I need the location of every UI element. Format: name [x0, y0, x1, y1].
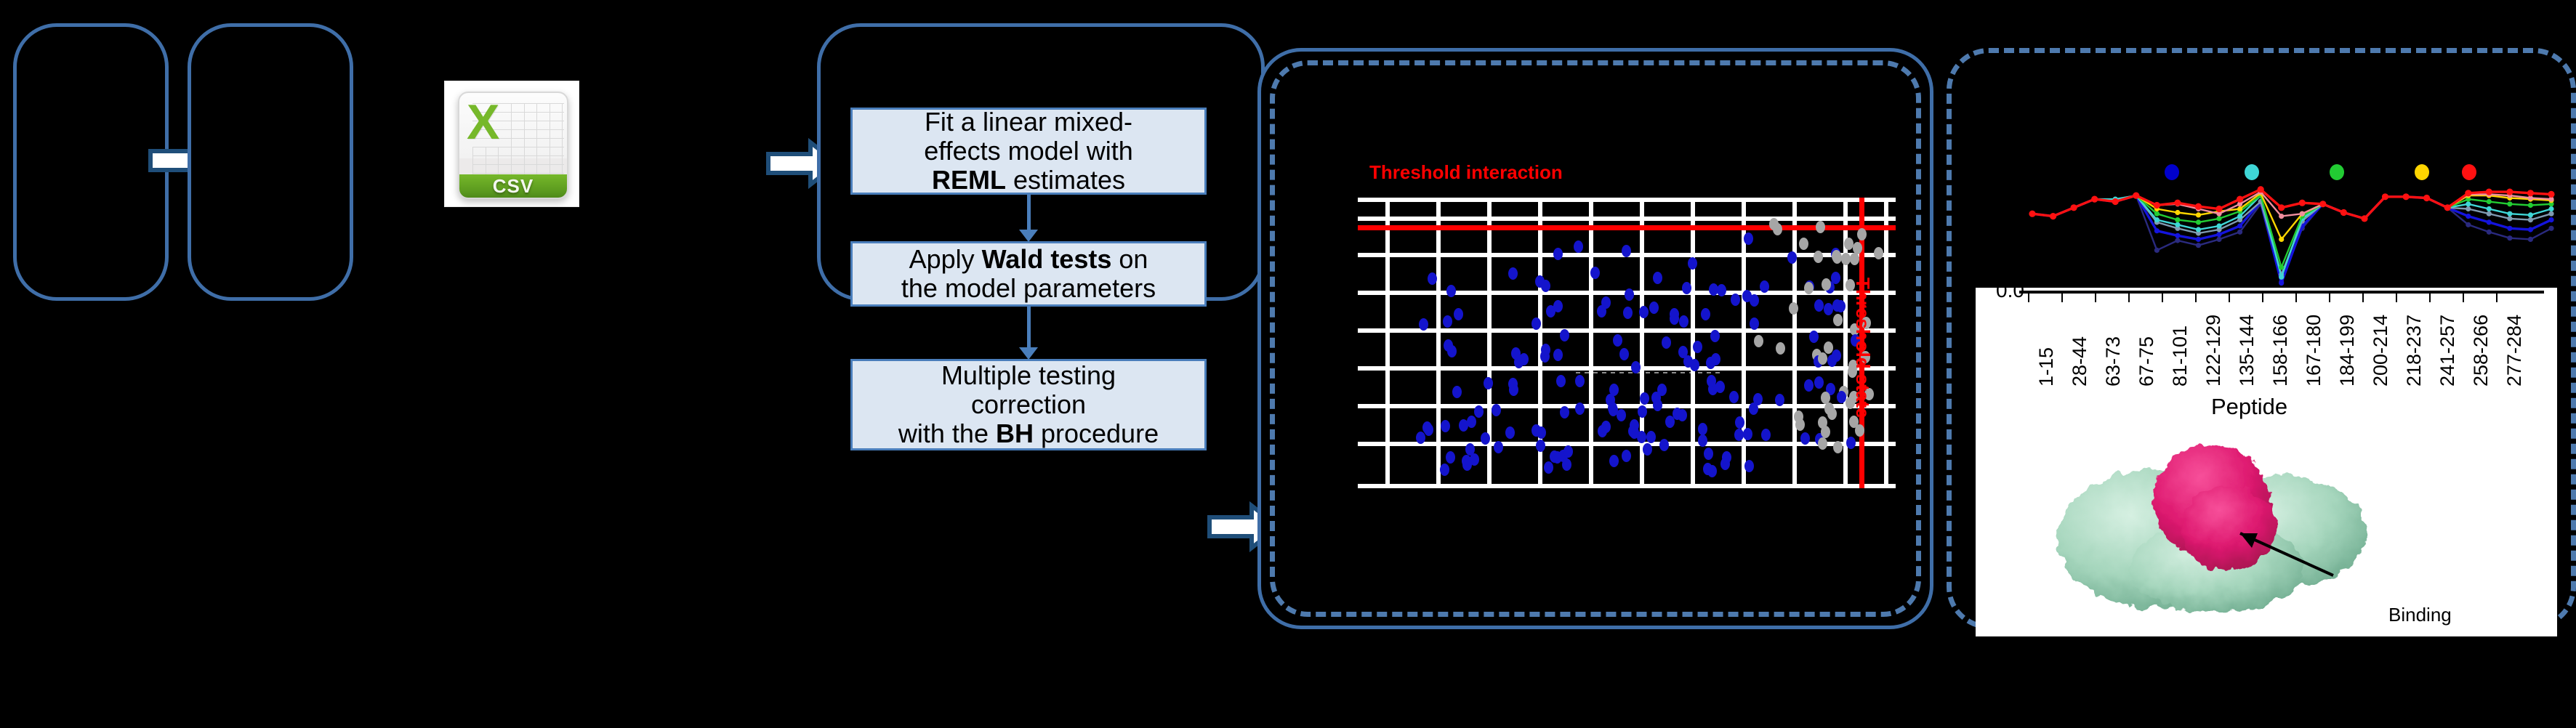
peptide-tick-label: 28-44 — [2069, 336, 2091, 387]
peptide-tick-label: 218-237 — [2403, 315, 2426, 387]
peptide-series-marker — [2548, 226, 2553, 231]
peptide-series-marker — [2175, 233, 2180, 238]
scatter-point — [1560, 329, 1569, 341]
scatter-point — [1809, 331, 1819, 343]
plain-text: with the — [898, 418, 996, 448]
scatter-point — [1800, 432, 1810, 445]
peptide-series-marker — [2487, 219, 2492, 225]
scatter-point — [1832, 299, 1842, 312]
scatter-point — [1659, 439, 1669, 451]
peptide-axis-structure-card: 0.0 1-1528-4463-7367-7581-101122-129135-… — [1976, 288, 2557, 636]
scatter-point — [1818, 437, 1827, 450]
peptide-series-marker — [2319, 201, 2326, 207]
peptide-series-marker — [2133, 193, 2139, 199]
scatter-point — [1704, 448, 1713, 460]
peptide-series-marker — [2403, 193, 2410, 200]
scatter-point — [1575, 403, 1585, 415]
scatter-point — [1474, 405, 1484, 418]
scatter-point — [1452, 386, 1462, 398]
scatter-point — [1855, 424, 1864, 437]
peptide-series-marker — [2196, 219, 2201, 225]
scatter-point — [1446, 285, 1456, 297]
peptide-series-marker — [2154, 248, 2160, 253]
peptide-series-marker — [2487, 230, 2492, 235]
scatter-point — [1562, 458, 1571, 471]
scatter-point — [1653, 272, 1662, 284]
peptide-series-marker — [2300, 211, 2305, 217]
plain-text: on — [1111, 244, 1148, 274]
peptide-series-marker — [2091, 196, 2098, 203]
scatter-point — [1536, 440, 1545, 452]
scatter-point — [1814, 299, 1824, 312]
x-axis-tick — [2329, 294, 2330, 302]
scatter-point — [1844, 238, 1853, 250]
scatter-point — [1563, 445, 1573, 458]
peptide-series-marker — [2506, 189, 2513, 195]
scatter-point — [1690, 359, 1699, 371]
emphasis-text: Wald tests — [982, 244, 1112, 274]
peptide-series-marker — [2487, 206, 2492, 211]
peptide-series-marker — [2050, 213, 2056, 219]
scatter-point — [1743, 428, 1752, 440]
scatter-point — [1622, 450, 1631, 462]
scatter-point — [1816, 221, 1825, 233]
connector-1-arrowhead — [1019, 230, 1038, 242]
plain-text: estimates — [1006, 165, 1125, 195]
peptide-series-marker — [2507, 226, 2512, 231]
scatter-point — [1597, 305, 1606, 318]
x-axis-tick — [2229, 294, 2230, 302]
peptide-tick-label: 158-166 — [2269, 315, 2292, 387]
peptide-tick-label: 81-101 — [2169, 325, 2191, 387]
scatter-point — [1761, 429, 1771, 441]
scatter-point — [1789, 302, 1798, 315]
plain-text: correction — [971, 389, 1086, 419]
peptide-tick-label: 184-199 — [2336, 315, 2359, 387]
peptide-series-marker — [2154, 202, 2160, 209]
csv-label-text: CSV — [493, 175, 534, 198]
peptide-series-marker — [2507, 216, 2512, 221]
peptide-series-marker — [2507, 211, 2512, 217]
peptide-series-marker — [2528, 203, 2533, 208]
peptide-series-marker — [2465, 190, 2471, 196]
scatter-point — [1467, 416, 1476, 428]
scatter-point — [1832, 250, 1841, 262]
peptide-series-marker — [2154, 211, 2160, 217]
x-axis-tick — [2496, 294, 2497, 302]
plain-text: effects model with — [924, 136, 1132, 166]
scatter-point — [1715, 381, 1725, 393]
scatter-point — [1505, 426, 1515, 439]
scatter-point — [1760, 280, 1769, 293]
scatter-point — [1665, 416, 1675, 428]
scatter-point — [1832, 349, 1841, 362]
scatter-point — [1833, 441, 1843, 453]
peptide-series-marker — [2548, 206, 2553, 211]
peptide-series-marker — [2527, 190, 2534, 196]
csv-label-band: CSV — [459, 174, 567, 198]
peptide-series-marker — [2279, 264, 2284, 270]
peptide-series-marker — [2548, 217, 2553, 222]
peptide-series-marker — [2216, 232, 2221, 237]
peptide-series-marker — [2507, 201, 2512, 206]
scatter-point — [1837, 391, 1846, 403]
peptide-series-marker — [2216, 223, 2221, 228]
scatter-point — [1833, 314, 1843, 326]
scatter-point — [1638, 405, 1647, 418]
peptide-series-marker — [2175, 222, 2180, 227]
peptide-series-marker — [2112, 198, 2119, 205]
scatter-point — [1679, 315, 1689, 328]
scatter-point — [1776, 342, 1785, 355]
scatter-point — [1630, 419, 1639, 432]
peptide-series-marker — [2195, 203, 2202, 210]
binding-interface-label-line2: interface — [2388, 666, 2461, 686]
peptide-series-marker — [2216, 216, 2221, 221]
x-axis-title: Peptide — [2211, 394, 2287, 420]
peptide-series-marker — [2258, 186, 2264, 193]
scatter-point — [1824, 403, 1834, 415]
scatter-point — [1709, 283, 1718, 296]
process-box-line: the model parameters — [901, 274, 1156, 303]
peptide-series-marker — [2507, 235, 2512, 240]
peptide-series-marker — [2299, 200, 2306, 206]
scatter-point — [1574, 240, 1583, 253]
threshold-interaction-line — [1358, 225, 1896, 230]
peptide-series-marker — [2423, 195, 2430, 201]
plain-text: Apply — [909, 244, 982, 274]
x-axis-tick — [2128, 294, 2130, 302]
peptide-series-marker — [2154, 217, 2160, 222]
process-box-multiple-testing: Multiple testingcorrectionwith the BH pr… — [850, 359, 1207, 450]
scatter-point — [1537, 426, 1546, 439]
peptide-series-marker — [2196, 212, 2201, 217]
scatter-point — [1550, 450, 1559, 463]
process-box-fit-model-text: Fit a linear mixed-effects model withREM… — [924, 108, 1132, 195]
scatter-point — [1613, 334, 1622, 347]
peptide-series-marker — [2216, 237, 2221, 242]
peptide-series-marker — [2466, 222, 2471, 227]
scatter-point — [1731, 294, 1740, 306]
binding-interface-label-line1: Binding — [2388, 604, 2461, 625]
peptide-series-marker — [2237, 196, 2243, 203]
scatter-point — [1424, 424, 1433, 436]
x-axis-tick — [2095, 294, 2096, 302]
peptide-series-marker — [2279, 237, 2284, 242]
peptide-series-marker — [2548, 211, 2553, 217]
x-axis-tick — [2396, 294, 2397, 302]
scatter-point — [1619, 348, 1629, 360]
scatter-point — [1688, 257, 1697, 270]
peptide-series-marker — [2071, 204, 2077, 211]
peptide-series-marker — [2487, 199, 2492, 204]
peptide-series-marker — [2466, 206, 2471, 211]
scatter-point — [1443, 315, 1452, 328]
peptide-tick-label: 135-144 — [2236, 315, 2258, 387]
scatter-point — [1814, 251, 1823, 263]
peptide-series-marker — [2215, 206, 2222, 212]
peptide-series-marker — [2279, 280, 2284, 286]
scatter-point — [1623, 307, 1633, 319]
process-box-line: effects model with — [924, 137, 1132, 166]
peptide-series-line — [2032, 195, 2551, 277]
process-box-wald-tests: Apply Wald tests onthe model parameters — [850, 241, 1207, 307]
peptide-tick-label: 258-266 — [2470, 315, 2492, 387]
scatter-point — [1693, 341, 1702, 353]
scatter-point — [1484, 377, 1493, 389]
scatter-point — [1874, 247, 1883, 259]
process-box-line: REML estimates — [924, 166, 1132, 195]
x-axis-tick — [2362, 294, 2364, 302]
x-axis-tick — [2429, 294, 2431, 302]
peptide-series-marker — [2154, 228, 2160, 233]
emphasis-text: REML — [932, 165, 1006, 195]
scatter-point — [1553, 349, 1563, 361]
scatter-point — [1590, 267, 1600, 279]
scatter-point — [1749, 403, 1758, 415]
peptide-series-marker — [2340, 209, 2347, 216]
scatter-point — [1742, 290, 1752, 302]
peptide-series-marker — [2196, 237, 2201, 242]
scatter-point — [1553, 248, 1563, 260]
scatter-point — [1544, 461, 1553, 474]
peptide-line-chart — [2006, 171, 2559, 294]
peptide-series-marker — [2237, 230, 2242, 235]
scatter-point — [1462, 458, 1472, 471]
peptide-series-marker — [2528, 217, 2533, 222]
excel-x-letter: X — [467, 97, 499, 147]
scatter-point — [1419, 318, 1428, 331]
scatter-point — [1795, 418, 1805, 431]
scatter-point — [1769, 218, 1779, 230]
panel-2-csv-input — [188, 23, 353, 301]
scatter-point — [1818, 416, 1827, 429]
csv-file-icon: X CSV — [458, 92, 568, 199]
scatter-point — [1775, 394, 1784, 406]
peptide-series-marker — [2361, 215, 2367, 222]
peptide-tick-label: 63-73 — [2102, 336, 2125, 387]
peptide-series-marker — [2548, 191, 2554, 198]
scatter-point — [1707, 375, 1716, 387]
scatter-point — [1744, 460, 1754, 472]
scatter-point — [1508, 267, 1518, 280]
scatter-point — [1657, 384, 1667, 396]
peptide-series-line — [2032, 195, 2551, 275]
peptide-series-marker — [2174, 200, 2181, 206]
scatter-point — [1646, 431, 1656, 443]
peptide-series-marker — [2528, 227, 2533, 232]
peptide-series-marker — [2466, 201, 2471, 206]
scatter-point — [1416, 432, 1425, 444]
peptide-series-marker — [2175, 238, 2180, 243]
peptide-series-line — [2032, 195, 2551, 282]
scatter-point — [1649, 302, 1659, 314]
x-axis-tick — [2262, 294, 2263, 302]
peptide-series-marker — [2444, 204, 2451, 211]
scatter-point — [1857, 228, 1867, 240]
peptide-series-marker — [2466, 214, 2471, 219]
scatter-point — [1799, 238, 1808, 250]
scatter-point — [1428, 272, 1437, 285]
peptide-series-marker — [2279, 214, 2284, 219]
peptide-series-marker — [2486, 189, 2492, 195]
process-box-multiple-testing-text: Multiple testingcorrectionwith the BH pr… — [898, 361, 1159, 449]
scatter-point — [1560, 406, 1569, 418]
peptide-tick-label: 167-180 — [2303, 315, 2325, 387]
scatter-point — [1481, 432, 1490, 445]
scatter-point — [1440, 464, 1449, 476]
scatter-point — [1441, 420, 1450, 432]
scatter-point — [1575, 375, 1585, 387]
scatter-point — [1729, 391, 1739, 403]
scatter-point — [1553, 300, 1563, 312]
scatter-point — [1711, 353, 1720, 365]
scatter-point — [1744, 232, 1753, 245]
scatter-point — [1662, 336, 1671, 349]
peptide-series-marker — [2487, 211, 2492, 217]
binding-interface-label: Binding interface — [2388, 564, 2461, 727]
scatter-point — [1509, 384, 1518, 396]
scatter-point — [1446, 451, 1455, 464]
x-axis-tick — [2463, 294, 2464, 302]
scatter-point — [1447, 345, 1457, 357]
scatter-point — [1643, 443, 1652, 456]
scatter-point — [1631, 361, 1641, 373]
scatter-point — [1754, 335, 1763, 347]
scatter-point — [1640, 392, 1649, 405]
legend-dot-5 — [2462, 164, 2476, 180]
scatter-point — [1535, 275, 1545, 288]
x-axis-tick — [2295, 294, 2297, 302]
panel-1-empty — [13, 23, 169, 301]
scatter-point — [1701, 308, 1710, 320]
scatter-point — [1622, 245, 1631, 257]
scatter-point — [1639, 306, 1649, 318]
scatter-point — [1722, 451, 1731, 464]
peptide-tick-label: 200-214 — [2370, 315, 2392, 387]
scatter-point — [1531, 318, 1541, 330]
scatter-point — [1541, 344, 1550, 356]
process-box-fit-model: Fit a linear mixed-effects model withREM… — [850, 108, 1207, 195]
legend-dot-2 — [2245, 164, 2259, 180]
peptide-chart-svg — [2006, 171, 2559, 294]
peptide-series-marker — [2279, 275, 2284, 280]
x-axis-tick — [2028, 294, 2029, 302]
scatter-point — [1454, 308, 1463, 320]
peptide-series-marker — [2196, 227, 2201, 232]
legend-dot-4 — [2415, 164, 2429, 180]
scatter-point — [1698, 434, 1707, 447]
scatter-point — [1625, 288, 1634, 301]
threshold-interaction-label: Threshold interaction — [1369, 161, 1563, 184]
peptide-series-marker — [2237, 206, 2242, 211]
scatter-point — [1598, 425, 1607, 437]
peptide-series-marker — [2278, 204, 2285, 211]
scatter-point — [1556, 375, 1566, 387]
peptide-series-marker — [2528, 212, 2533, 217]
scatter-plot — [1358, 198, 1896, 488]
process-box-line: Fit a linear mixed- — [924, 108, 1132, 137]
scatter-point — [1814, 376, 1824, 389]
x-axis-tick — [2195, 294, 2197, 302]
scatter-point — [1492, 404, 1501, 416]
peptide-series-marker — [2237, 214, 2242, 219]
scatter-point — [1637, 431, 1646, 443]
scatter-point — [1670, 308, 1679, 320]
process-box-wald-tests-text: Apply Wald tests onthe model parameters — [901, 245, 1156, 304]
x-axis-tick — [2162, 294, 2163, 302]
emphasis-text: BH — [996, 418, 1034, 448]
peptide-series-marker — [2196, 243, 2201, 248]
peptide-series-marker — [2029, 211, 2035, 217]
scatter-point — [1804, 282, 1814, 294]
connector-2 — [1027, 307, 1031, 349]
x-axis-line — [2019, 291, 2544, 294]
scatter-point — [1846, 437, 1856, 449]
legend-dot-1 — [2165, 164, 2179, 180]
legend-dot-3 — [2330, 164, 2344, 180]
connector-1 — [1027, 195, 1031, 231]
plain-text: Fit a linear mixed- — [925, 107, 1132, 137]
scatter-point — [1822, 278, 1831, 291]
scatter-point — [1818, 352, 1827, 365]
scatter-point — [1703, 463, 1712, 475]
scatter-point — [1608, 402, 1617, 414]
process-box-line: correction — [898, 390, 1159, 419]
plain-text: the model parameters — [901, 273, 1156, 303]
scatter-point — [1682, 282, 1691, 294]
peptide-tick-label: 277-284 — [2503, 315, 2526, 387]
scatter-point — [1850, 253, 1859, 265]
scatter-point — [1609, 384, 1619, 396]
scatter-point — [1609, 455, 1619, 467]
scatter-point — [1787, 251, 1797, 264]
scatter-point — [1804, 379, 1814, 392]
protein-surface-structure — [2042, 423, 2384, 620]
peptide-tick-label: 67-75 — [2136, 336, 2158, 387]
peptide-series-marker — [2175, 217, 2180, 222]
peptide-series-line — [2032, 195, 2551, 283]
process-box-line: with the BH procedure — [898, 419, 1159, 448]
scatter-point — [1678, 346, 1688, 358]
scatter-point — [1750, 318, 1759, 330]
scatter-point — [1734, 429, 1744, 441]
peptide-tick-label: 241-257 — [2436, 315, 2459, 387]
x-axis-tick — [2061, 294, 2063, 302]
scatter-point — [1710, 330, 1720, 342]
scatter-point — [1653, 399, 1662, 411]
plain-text: procedure — [1034, 418, 1159, 448]
plain-text: Multiple testing — [941, 360, 1116, 390]
peptide-tick-label: 122-129 — [2202, 315, 2225, 387]
peptide-series-marker — [2382, 193, 2388, 200]
threshold-state-label: Threshold state — [1851, 278, 1874, 418]
scatter-point — [1735, 416, 1744, 429]
process-box-line: Multiple testing — [898, 361, 1159, 390]
peptide-tick-label: 1-15 — [2035, 347, 2058, 387]
scatter-point — [1698, 423, 1707, 435]
peptide-series-marker — [2237, 223, 2242, 228]
scatter-point — [1511, 347, 1521, 360]
peptide-series-marker — [2175, 210, 2180, 215]
connector-2-arrowhead — [1019, 347, 1038, 360]
peptide-series-marker — [2528, 237, 2533, 242]
figure-canvas: X CSV Fit a linear mixed-effects model w… — [0, 0, 2576, 687]
scatter-point — [1494, 441, 1503, 453]
process-box-line: Apply Wald tests on — [901, 245, 1156, 274]
